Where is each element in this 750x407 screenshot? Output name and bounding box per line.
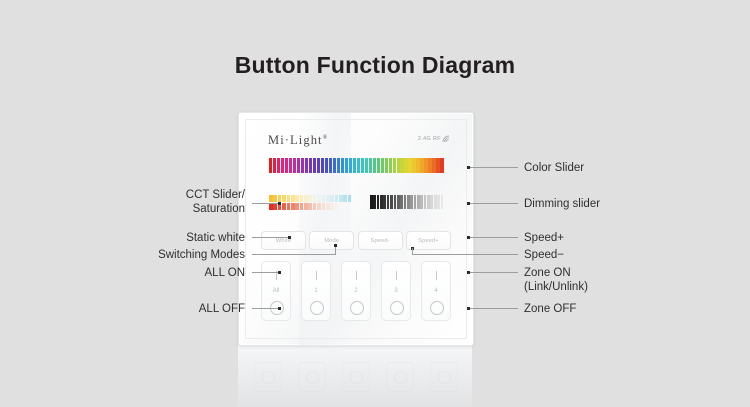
reflection-key bbox=[386, 362, 414, 392]
reflection-key bbox=[342, 362, 370, 392]
slider-segment bbox=[282, 203, 286, 210]
slider-segment bbox=[277, 158, 280, 173]
reflection-key bbox=[430, 362, 458, 392]
leader-line-color-slider bbox=[470, 167, 518, 168]
slider-segment bbox=[300, 203, 304, 210]
slider-segment bbox=[278, 195, 282, 202]
zone-key-1[interactable]: 1 bbox=[301, 261, 331, 321]
leader-dot-static-white bbox=[288, 236, 291, 239]
white-button[interactable]: White bbox=[261, 231, 306, 250]
rf-label: 2.4G RF bbox=[418, 136, 441, 142]
annotation-all-off: ALL OFF bbox=[115, 302, 245, 316]
slider-segment bbox=[308, 195, 312, 202]
speed-up-button-label: Speed+ bbox=[418, 238, 439, 244]
slider-segment bbox=[436, 158, 439, 173]
slider-segment bbox=[408, 158, 411, 173]
slider-segment bbox=[416, 158, 419, 173]
slider-segment bbox=[287, 203, 291, 210]
zone-key-4[interactable]: 4 bbox=[421, 261, 451, 321]
slider-segment bbox=[397, 195, 400, 209]
slider-segment bbox=[441, 195, 444, 209]
slider-segment bbox=[424, 158, 427, 173]
rf-badge: 2.4G RF bbox=[418, 135, 451, 142]
slider-segment bbox=[369, 158, 372, 173]
leader-line-speed-up bbox=[470, 237, 518, 238]
slider-segment bbox=[389, 158, 392, 173]
slider-segment bbox=[400, 195, 403, 209]
slider-segment bbox=[440, 158, 443, 173]
zone-on-icon[interactable] bbox=[356, 271, 357, 280]
zone-on-icon[interactable] bbox=[316, 271, 317, 280]
zone-key-label: All bbox=[262, 288, 290, 294]
leader-line-dimming-slider bbox=[470, 203, 518, 204]
slider-segment bbox=[353, 158, 356, 173]
leader-line-speed-down bbox=[412, 254, 518, 255]
function-button-row: White Mode Speed- Speed+ bbox=[261, 231, 451, 248]
slider-segment bbox=[387, 195, 390, 209]
annotation-all-on: ALL ON bbox=[115, 266, 245, 280]
leader-line-static-white bbox=[252, 237, 290, 238]
leader-line-zone-off bbox=[470, 308, 518, 309]
annotation-dimming-slider: Dimming slider bbox=[524, 197, 694, 211]
reflection-off-icon bbox=[394, 371, 407, 384]
brand-name: Mi·Light bbox=[268, 133, 323, 147]
annotation-color-slider: Color Slider bbox=[524, 161, 684, 175]
slider-segment bbox=[291, 195, 295, 202]
slider-segment bbox=[417, 195, 420, 209]
slider-segment bbox=[420, 195, 423, 209]
mode-button[interactable]: Mode bbox=[309, 231, 354, 250]
slider-segment bbox=[427, 195, 430, 209]
slider-segment bbox=[345, 158, 348, 173]
zone-off-icon[interactable] bbox=[350, 301, 364, 315]
slider-segment bbox=[300, 195, 304, 202]
slider-segment bbox=[412, 158, 415, 173]
slider-segment bbox=[273, 195, 277, 202]
slider-segment bbox=[393, 158, 396, 173]
slider-segment bbox=[339, 203, 343, 210]
wifi-arc-icon bbox=[442, 135, 451, 143]
slider-segment bbox=[407, 195, 410, 209]
slider-segment bbox=[420, 158, 423, 173]
slider-segment bbox=[339, 195, 343, 202]
slider-segment bbox=[361, 158, 364, 173]
slider-segment bbox=[293, 158, 296, 173]
slider-segment bbox=[381, 158, 384, 173]
leader-dot-modes bbox=[334, 244, 337, 247]
annotation-speed-up: Speed+ bbox=[524, 231, 674, 245]
slider-segment bbox=[330, 195, 334, 202]
slider-segment bbox=[404, 195, 407, 209]
slider-segment bbox=[348, 203, 352, 210]
slider-segment bbox=[295, 195, 299, 202]
slider-segment bbox=[269, 195, 273, 202]
reflection-off-icon bbox=[262, 371, 275, 384]
slider-segment bbox=[317, 195, 321, 202]
dimming-slider[interactable] bbox=[370, 195, 444, 209]
slider-segment bbox=[326, 195, 330, 202]
reflection-key bbox=[254, 362, 282, 392]
panel-reflection-keys bbox=[254, 362, 458, 396]
slider-segment bbox=[337, 158, 340, 173]
slider-segment bbox=[343, 195, 347, 202]
zone-key-3[interactable]: 3 bbox=[381, 261, 411, 321]
color-slider[interactable] bbox=[269, 158, 444, 173]
slider-segment bbox=[404, 158, 407, 173]
annotation-cct-slider: CCT Slider/ Saturation bbox=[95, 188, 245, 216]
panel-face: Mi·Light® 2.4G RF White Mode Speed- Spee… bbox=[238, 112, 474, 346]
slider-segment bbox=[317, 203, 321, 210]
slider-segment bbox=[297, 158, 300, 173]
zone-key-all[interactable]: All bbox=[261, 261, 291, 321]
slider-segment bbox=[424, 195, 427, 209]
slider-segment bbox=[282, 195, 286, 202]
zone-on-icon[interactable] bbox=[436, 271, 437, 280]
slider-segment bbox=[313, 203, 317, 210]
slider-segment bbox=[410, 195, 413, 209]
speed-down-button[interactable]: Speed- bbox=[358, 231, 403, 250]
slider-segment bbox=[335, 195, 339, 202]
slider-segment bbox=[380, 195, 383, 209]
zone-key-label: 4 bbox=[422, 288, 450, 294]
slider-segment bbox=[281, 158, 284, 173]
slider-segment bbox=[291, 203, 295, 210]
slider-segment bbox=[285, 158, 288, 173]
slider-segment bbox=[304, 203, 308, 210]
leader-line-modes-vert bbox=[335, 246, 336, 255]
slider-segment bbox=[414, 195, 417, 209]
slider-segment bbox=[430, 195, 433, 209]
leader-line-zone-on bbox=[470, 272, 518, 273]
slider-segment bbox=[394, 195, 397, 209]
slider-segment bbox=[390, 195, 393, 209]
slider-segment bbox=[273, 158, 276, 173]
zone-key-label: 1 bbox=[302, 288, 330, 294]
zone-off-icon[interactable] bbox=[390, 301, 404, 315]
slider-segment bbox=[343, 203, 347, 210]
slider-segment bbox=[289, 158, 292, 173]
slider-segment bbox=[295, 203, 299, 210]
leader-dot-cct bbox=[278, 202, 281, 205]
slider-segment bbox=[437, 195, 440, 209]
zone-key-label: 2 bbox=[342, 288, 370, 294]
slider-segment bbox=[373, 158, 376, 173]
annotation-zone-on: Zone ON (Link/Unlink) bbox=[524, 266, 694, 294]
slider-segment bbox=[313, 158, 316, 173]
slider-segment bbox=[325, 158, 328, 173]
leader-dot-all-on bbox=[278, 271, 281, 274]
reflection-off-icon bbox=[438, 371, 451, 384]
reflection-off-icon bbox=[306, 371, 319, 384]
zone-key-row: All 1 2 3 bbox=[261, 261, 451, 319]
slider-segment bbox=[326, 203, 330, 210]
slider-segment bbox=[397, 158, 400, 173]
annotation-speed-down: Speed− bbox=[524, 248, 674, 262]
slider-segment bbox=[308, 203, 312, 210]
brand-logo: Mi·Light® bbox=[268, 133, 327, 148]
slider-segment bbox=[348, 195, 352, 202]
slider-segment bbox=[373, 195, 376, 209]
cct-slider-lower[interactable] bbox=[269, 203, 352, 210]
slider-segment bbox=[313, 195, 317, 202]
slider-segment bbox=[317, 158, 320, 173]
slider-segment bbox=[304, 195, 308, 202]
slider-segment bbox=[335, 203, 339, 210]
slider-segment bbox=[432, 158, 435, 173]
slider-segment bbox=[349, 158, 352, 173]
slider-segment bbox=[400, 158, 403, 173]
trademark-symbol: ® bbox=[323, 135, 328, 141]
slider-segment bbox=[322, 195, 326, 202]
slider-segment bbox=[385, 158, 388, 173]
annotation-zone-off: Zone OFF bbox=[524, 302, 684, 316]
speed-down-button-label: Speed- bbox=[371, 238, 390, 244]
leader-line-all-off bbox=[252, 308, 280, 309]
zone-key-label: 3 bbox=[382, 288, 410, 294]
zone-off-icon[interactable] bbox=[430, 301, 444, 315]
zone-on-icon[interactable] bbox=[396, 271, 397, 280]
slider-segment bbox=[329, 158, 332, 173]
diagram-stage: Button Function Diagram Mi·Light® 2.4G R… bbox=[0, 0, 750, 406]
slider-segment bbox=[370, 195, 373, 209]
slider-segment bbox=[269, 158, 272, 173]
page-title: Button Function Diagram bbox=[0, 52, 750, 79]
mode-button-label: Mode bbox=[324, 238, 339, 244]
zone-off-icon[interactable] bbox=[310, 301, 324, 315]
reflection-off-icon bbox=[350, 371, 363, 384]
slider-segment bbox=[305, 158, 308, 173]
slider-segment bbox=[377, 158, 380, 173]
slider-segment bbox=[321, 158, 324, 173]
leader-line-modes bbox=[252, 254, 336, 255]
slider-segment bbox=[383, 195, 386, 209]
slider-segment bbox=[330, 203, 334, 210]
device-panel: Mi·Light® 2.4G RF White Mode Speed- Spee… bbox=[238, 112, 472, 344]
slider-segment bbox=[333, 158, 336, 173]
cct-slider-upper[interactable] bbox=[269, 195, 352, 202]
slider-segment bbox=[301, 158, 304, 173]
slider-segment bbox=[341, 158, 344, 173]
zone-key-2[interactable]: 2 bbox=[341, 261, 371, 321]
slider-segment bbox=[365, 158, 368, 173]
slider-segment bbox=[322, 203, 326, 210]
leader-line-cct bbox=[252, 203, 280, 204]
annotation-switching-modes: Switching Modes bbox=[95, 248, 245, 262]
slider-segment bbox=[309, 158, 312, 173]
slider-segment bbox=[357, 158, 360, 173]
leader-dot-all-off bbox=[278, 307, 281, 310]
annotation-static-white: Static white bbox=[105, 231, 245, 245]
slider-segment bbox=[377, 195, 380, 209]
leader-line-all-on bbox=[252, 272, 280, 273]
slider-segment bbox=[428, 158, 431, 173]
slider-segment bbox=[287, 195, 291, 202]
slider-segment bbox=[434, 195, 437, 209]
reflection-key bbox=[298, 362, 326, 392]
